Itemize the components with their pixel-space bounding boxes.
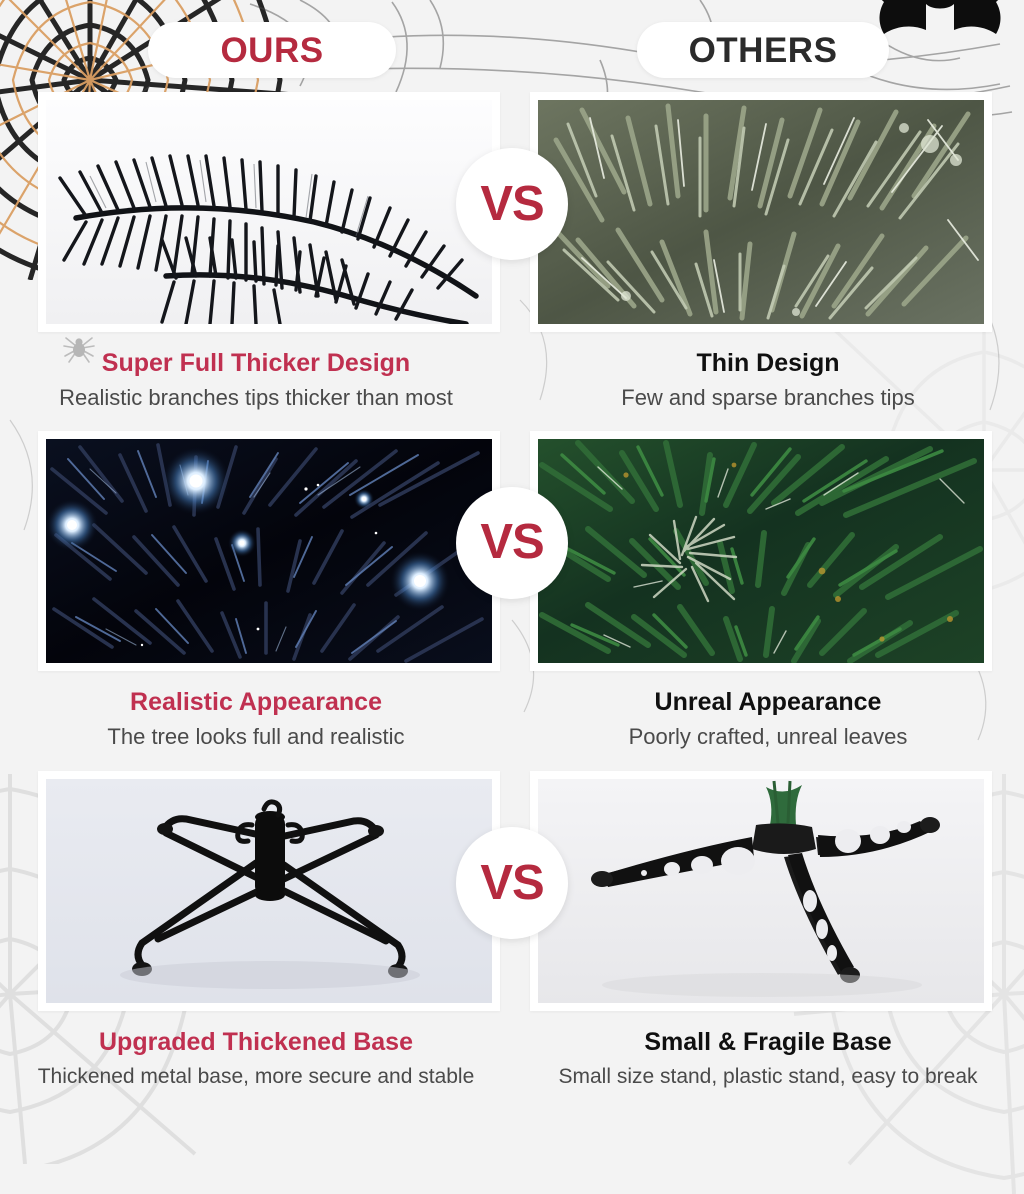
row-captions: Upgraded Thickened Base Thickened metal … (0, 1011, 1024, 1090)
comparison-row-appearance: VS Realistic Appearance The tree looks f… (0, 431, 1024, 752)
ours-photo-card-base (38, 771, 500, 1011)
vs-badge-appearance: VS (456, 487, 568, 599)
others-caption-base: Small & Fragile Base Small size stand, p… (512, 1027, 1024, 1090)
photo-plastic-tree-stand (538, 779, 984, 1003)
ours-caption-base: Upgraded Thickened Base Thickened metal … (0, 1027, 512, 1090)
ours-caption-subtitle: The tree looks full and realistic (6, 723, 506, 752)
comparison-rows: VS Super Full Thicker Design Realistic b… (0, 92, 1024, 1090)
others-photo-card-design (530, 92, 992, 332)
others-caption-appearance: Unreal Appearance Poorly crafted, unreal… (512, 687, 1024, 752)
ours-caption-appearance: Realistic Appearance The tree looks full… (0, 687, 512, 752)
row-media: VS (0, 431, 1024, 671)
others-caption-design: Thin Design Few and sparse branches tips (512, 348, 1024, 413)
others-badge: OTHERS (637, 22, 889, 78)
ours-badge: OURS (148, 22, 396, 78)
ours-photo-card-appearance (38, 431, 500, 671)
others-photo-card-appearance (530, 431, 992, 671)
others-caption-title: Small & Fragile Base (518, 1027, 1018, 1057)
others-caption-subtitle: Small size stand, plastic stand, easy to… (518, 1063, 1018, 1090)
others-caption-subtitle: Few and sparse branches tips (518, 384, 1018, 413)
photo-thin-branches (538, 100, 984, 324)
comparison-header: OURS OTHERS (0, 0, 1024, 90)
ours-label: OURS (220, 33, 323, 68)
others-caption-title: Unreal Appearance (518, 687, 1018, 717)
vs-badge-base: VS (456, 827, 568, 939)
others-label: OTHERS (689, 33, 838, 68)
vs-label: VS (480, 859, 543, 908)
comparison-row-base: VS Upgraded Thickened Base Thickened met… (0, 771, 1024, 1090)
row-media: VS (0, 92, 1024, 332)
others-photo-card-base (530, 771, 992, 1011)
vs-label: VS (480, 518, 543, 567)
row-captions: Realistic Appearance The tree looks full… (0, 671, 1024, 752)
photo-green-pine-needles (538, 439, 984, 663)
photo-metal-tree-stand (46, 779, 492, 1003)
others-caption-subtitle: Poorly crafted, unreal leaves (518, 723, 1018, 752)
row-media: VS (0, 771, 1024, 1011)
vs-label: VS (480, 180, 543, 229)
ours-caption-title: Upgraded Thickened Base (6, 1027, 506, 1057)
vs-badge-design: VS (456, 148, 568, 260)
spider-icon (62, 332, 96, 364)
ours-caption-subtitle: Thickened metal base, more secure and st… (6, 1063, 506, 1090)
ours-caption-title: Realistic Appearance (6, 687, 506, 717)
comparison-row-design: VS Super Full Thicker Design Realistic b… (0, 92, 1024, 413)
others-caption-title: Thin Design (518, 348, 1018, 378)
ours-caption-subtitle: Realistic branches tips thicker than mos… (6, 384, 506, 413)
photo-black-branch (46, 100, 492, 324)
ours-photo-card-design (38, 92, 500, 332)
row-captions: Super Full Thicker Design Realistic bran… (0, 332, 1024, 413)
photo-black-tree-lights (46, 439, 492, 663)
